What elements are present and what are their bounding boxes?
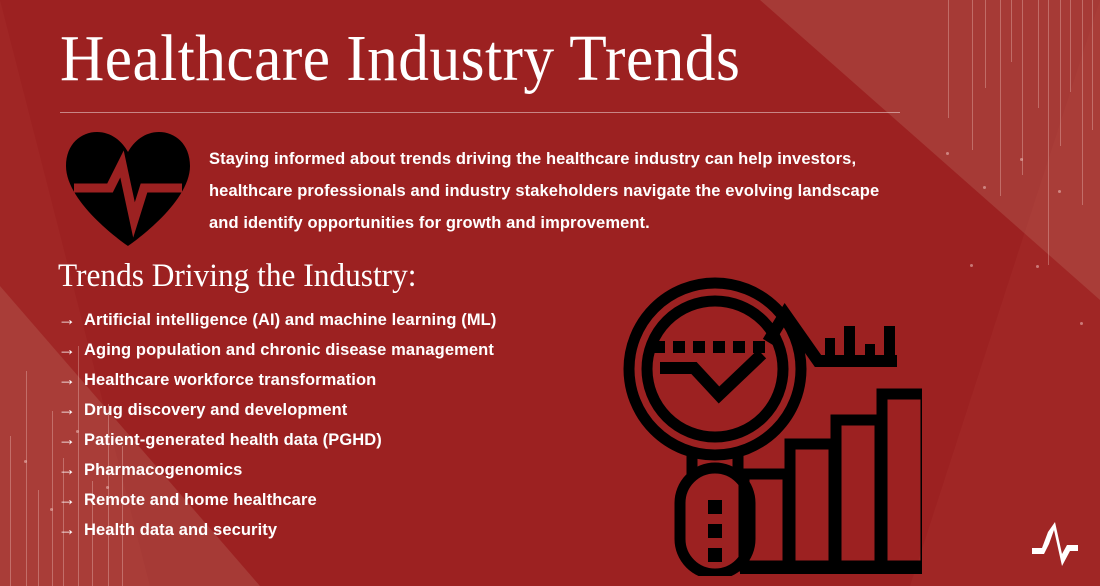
arrow-icon: → <box>58 310 84 328</box>
title-divider <box>60 112 900 113</box>
trends-list: → Artificial intelligence (AI) and machi… <box>58 310 618 550</box>
page-title: Healthcare Industry Trends <box>60 26 740 92</box>
list-item: → Patient-generated health data (PGHD) <box>58 430 618 460</box>
magnifying-glass-bar-chart-icon <box>622 276 922 576</box>
trends-heading: Trends Driving the Industry: <box>58 258 416 295</box>
arrow-icon: → <box>58 460 84 478</box>
arrow-icon: → <box>58 370 84 388</box>
infographic-canvas: Healthcare Industry Trends Staying infor… <box>0 0 1100 586</box>
list-item: → Remote and home healthcare <box>58 490 618 520</box>
pulse-wave-logo <box>1026 514 1084 572</box>
arrow-icon: → <box>58 340 84 358</box>
list-item-label: Aging population and chronic disease man… <box>84 341 494 360</box>
heart-pulse-icon <box>62 128 194 246</box>
arrow-icon: → <box>58 490 84 508</box>
arrow-icon: → <box>58 520 84 538</box>
arrow-icon: → <box>58 400 84 418</box>
list-item: → Health data and security <box>58 520 618 550</box>
list-item-label: Pharmacogenomics <box>84 461 242 480</box>
list-item: → Artificial intelligence (AI) and machi… <box>58 310 618 340</box>
list-item-label: Healthcare workforce transformation <box>84 371 376 390</box>
intro-paragraph: Staying informed about trends driving th… <box>209 143 881 240</box>
list-item: → Pharmacogenomics <box>58 460 618 490</box>
list-item: → Healthcare workforce transformation <box>58 370 618 400</box>
list-item-label: Remote and home healthcare <box>84 491 317 510</box>
list-item-label: Artificial intelligence (AI) and machine… <box>84 311 496 330</box>
list-item-label: Drug discovery and development <box>84 401 347 420</box>
list-item: → Drug discovery and development <box>58 400 618 430</box>
list-item-label: Patient-generated health data (PGHD) <box>84 431 382 450</box>
top-right-wedge-soft <box>910 0 1100 586</box>
list-item-label: Health data and security <box>84 521 277 540</box>
list-item: → Aging population and chronic disease m… <box>58 340 618 370</box>
arrow-icon: → <box>58 430 84 448</box>
